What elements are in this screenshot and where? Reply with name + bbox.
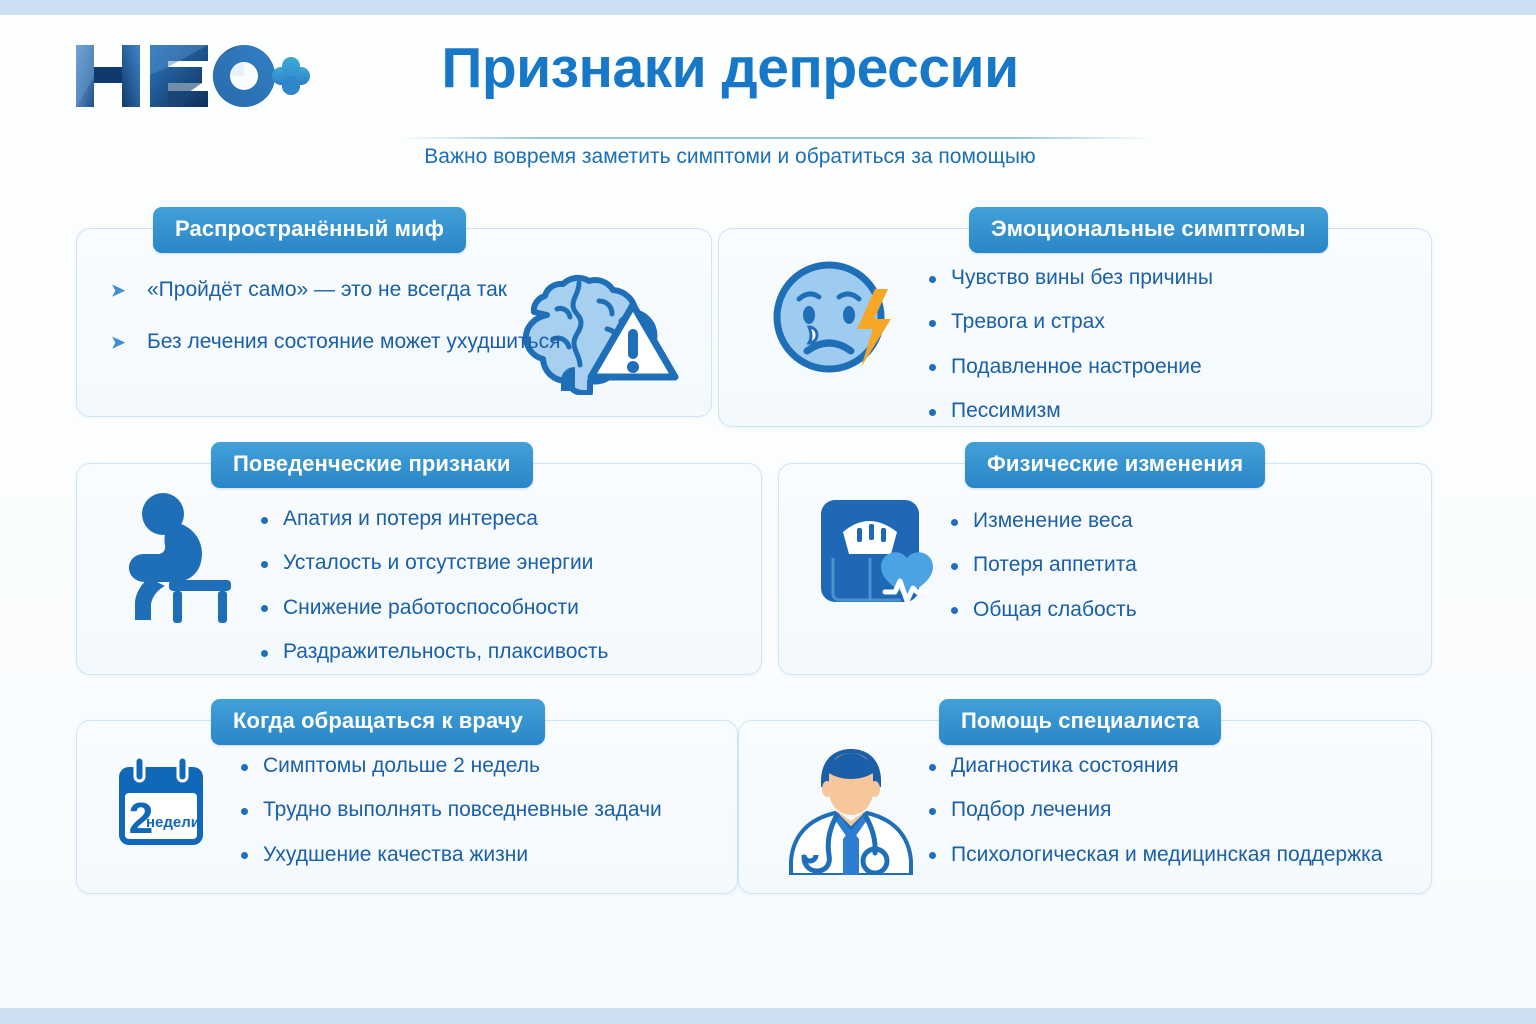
bullet-icon xyxy=(929,364,936,371)
list-item-label: Ухудшение качества жизни xyxy=(263,843,528,866)
bullet-icon xyxy=(951,519,958,526)
card-emotional-list: Чувство вины без причины Тревога и страх… xyxy=(925,265,1213,424)
page-title: Признаки депрессии xyxy=(330,39,1130,99)
bullet-icon xyxy=(929,409,936,416)
scale-heart-icon xyxy=(815,492,943,620)
list-item-label: Подавленное настроение xyxy=(951,355,1202,378)
list-item-label: Подбор лечения xyxy=(951,798,1111,821)
calendar-icon: 2 недели xyxy=(105,753,217,857)
card-when-badge: Когда обращаться к врачу xyxy=(211,699,545,745)
infographic-page: Признаки депрессии Важно вовремя заметит… xyxy=(0,0,1536,1024)
list-item: Трудно выполнять повседневные задачи xyxy=(237,797,662,823)
card-physical-list: Изменение веса Потеря аппетита Общая сла… xyxy=(947,508,1137,623)
doctor-icon xyxy=(779,743,915,875)
card-myth-list: ➤ «Пройдёт само» — это не всегда так ➤ Б… xyxy=(111,277,560,382)
arrow-bullet-icon: ➤ xyxy=(111,332,125,353)
page-subtitle: Важно вовремя заметить симптоми и обрати… xyxy=(330,145,1130,169)
bullet-icon xyxy=(241,808,248,815)
list-item: Чувство вины без причины xyxy=(925,265,1213,291)
bullet-icon xyxy=(929,320,936,327)
card-behavioral-badge: Поведенческие признаки xyxy=(211,442,533,488)
neo-plus-logo xyxy=(72,37,312,115)
bullet-icon xyxy=(261,605,268,612)
bullet-icon xyxy=(929,276,936,283)
card-specialist-badge: Помощь специалиста xyxy=(939,699,1221,745)
bullet-icon xyxy=(929,764,936,771)
list-item: Подавленное настроение xyxy=(925,354,1213,380)
card-specialist-list: Диагностика состояния Подбор лечения Пси… xyxy=(925,753,1382,868)
bullet-icon xyxy=(261,517,268,524)
list-item: Усталость и отсутствие энергии xyxy=(257,550,609,576)
list-item-label: Тревога и страх xyxy=(951,310,1105,333)
card-emotional-badge: Эмоциональные симптгомы xyxy=(969,207,1328,253)
list-item: Потеря аппетита xyxy=(947,552,1137,578)
bullet-icon xyxy=(951,563,958,570)
list-item-label: Изменение веса xyxy=(973,509,1133,532)
list-item: Общая слабость xyxy=(947,597,1137,623)
list-item-label: Симптомы дольше 2 недель xyxy=(263,754,540,777)
bullet-icon xyxy=(929,808,936,815)
card-physical: Физические изменения Изменение веса Поте… xyxy=(778,463,1432,675)
list-item: ➤ Без лечения состояние может ухудшиться xyxy=(111,329,560,355)
bullet-icon xyxy=(951,607,958,614)
list-item-label: Потеря аппетита xyxy=(973,553,1137,576)
bullet-icon xyxy=(261,650,268,657)
list-item: Диагностика состояния xyxy=(925,753,1382,779)
list-item-label: Раздражительность, плаксивость xyxy=(283,640,609,663)
calendar-unit: недели xyxy=(146,814,200,831)
list-item-label: Общая слабость xyxy=(973,598,1137,621)
list-item-label: Снижение работоспособности xyxy=(283,596,579,619)
list-item-label: «Пройдёт само» — это не всегда так xyxy=(147,278,507,301)
list-item: Изменение веса xyxy=(947,508,1137,534)
bullet-icon xyxy=(929,852,936,859)
list-item-label: Пессимизм xyxy=(951,399,1061,422)
list-item: Раздражительность, плаксивость xyxy=(257,639,609,665)
arrow-bullet-icon: ➤ xyxy=(111,280,125,301)
list-item-label: Трудно выполнять повседневные задачи xyxy=(263,798,662,821)
bullet-icon xyxy=(261,561,268,568)
list-item-label: Апатия и потеря интереса xyxy=(283,507,538,530)
list-item: Симптомы дольше 2 недель xyxy=(237,753,662,779)
bullet-icon xyxy=(241,852,248,859)
list-item: ➤ «Пройдёт само» — это не всегда так xyxy=(111,277,560,303)
list-item-label: Чувство вины без причины xyxy=(951,266,1213,289)
list-item-label: Диагностика состояния xyxy=(951,754,1179,777)
top-edge-band xyxy=(0,0,1536,15)
card-specialist-help: Помощь специалиста Диагностика состояния… xyxy=(738,720,1432,894)
header: Признаки депрессии Важно вовремя заметит… xyxy=(0,15,1536,175)
list-item: Тревога и страх xyxy=(925,309,1213,335)
list-item-label: Усталость и отсутствие энергии xyxy=(283,551,593,574)
card-behavioral-list: Апатия и потеря интереса Усталость и отс… xyxy=(257,506,609,665)
card-myth: Распространённый миф ➤ «Пройдёт само» — … xyxy=(76,228,712,417)
card-physical-badge: Физические изменения xyxy=(965,442,1265,488)
list-item-label: Без лечения состояние может ухудшиться xyxy=(147,330,560,353)
list-item: Пессимизм xyxy=(925,398,1213,424)
card-when-to-see-doctor: 2 недели Когда обращаться к врачу Симпто… xyxy=(76,720,738,894)
card-when-list: Симптомы дольше 2 недель Трудно выполнят… xyxy=(237,753,662,868)
list-item: Ухудшение качества жизни xyxy=(237,842,662,868)
sad-face-lightning-icon xyxy=(771,255,899,383)
list-item: Снижение работоспособности xyxy=(257,595,609,621)
list-item-label: Психологическая и медицинская поддержка xyxy=(951,843,1382,866)
list-item: Психологическая и медицинская поддержка xyxy=(925,842,1382,868)
card-behavioral: Поведенческие признаки Апатия и потеря и… xyxy=(76,463,762,675)
card-myth-badge: Распространённый миф xyxy=(153,207,466,253)
list-item: Подбор лечения xyxy=(925,797,1382,823)
list-item: Апатия и потеря интереса xyxy=(257,506,609,532)
title-divider xyxy=(400,137,1152,139)
sitting-person-icon xyxy=(117,488,257,628)
bottom-edge-band xyxy=(0,1008,1536,1024)
card-emotional: Эмоциональные симптгомы Чувство вины без… xyxy=(718,228,1432,427)
bullet-icon xyxy=(241,764,248,771)
